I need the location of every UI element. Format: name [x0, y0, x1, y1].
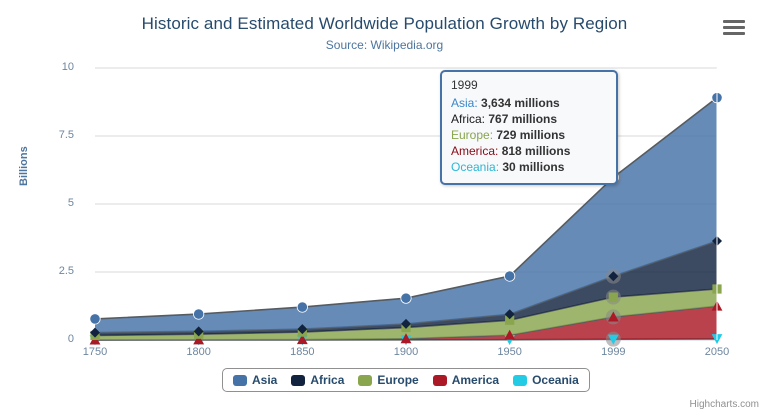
chart-legend: Asia Africa Europe America Oceania	[222, 368, 590, 392]
legend-item-europe[interactable]: Europe	[358, 373, 418, 387]
point-oceania-1999	[606, 332, 621, 347]
legend-swatch-america	[433, 375, 447, 386]
x-tick-label: 1750	[65, 346, 125, 358]
tooltip-row-america: America: 818 millions	[451, 143, 607, 159]
tooltip-series-name: Europe:	[451, 128, 496, 142]
x-tick-label: 1999	[583, 346, 643, 358]
point-america-1999	[606, 309, 621, 324]
point-asia-1850	[297, 302, 307, 312]
tooltip-rows: Asia: 3,634 millionsAfrica: 767 millions…	[451, 95, 607, 175]
legend-swatch-europe	[358, 375, 372, 386]
x-tick-label: 1950	[480, 346, 540, 358]
tooltip-row-europe: Europe: 729 millions	[451, 127, 607, 143]
highcharts-credits[interactable]: Highcharts.com	[690, 399, 759, 410]
legend-label-asia: Asia	[252, 373, 277, 387]
point-asia-1750	[90, 314, 100, 324]
tooltip-series-value: 767 millions	[488, 112, 557, 126]
y-tick-label: 7.5	[28, 129, 74, 141]
x-tick-label: 1850	[272, 346, 332, 358]
point-asia-1900	[401, 293, 411, 303]
highcharts-container: Historic and Estimated Worldwide Populat…	[0, 0, 769, 416]
point-europe-1999	[606, 290, 621, 305]
legend-label-america: America	[452, 373, 499, 387]
y-tick-label: 2.5	[28, 265, 74, 277]
tooltip-series-value: 729 millions	[496, 128, 565, 142]
tooltip-series-value: 3,634 millions	[481, 96, 560, 110]
tooltip-series-value: 30 millions	[502, 160, 564, 174]
legend-swatch-oceania	[513, 375, 527, 386]
tooltip-header: 1999	[451, 78, 607, 92]
y-axis-title: Billions	[18, 146, 30, 186]
chart-tooltip: 1999 Asia: 3,634 millionsAfrica: 767 mil…	[440, 70, 618, 185]
point-asia-1800	[193, 309, 203, 319]
legend-item-oceania[interactable]: Oceania	[513, 373, 579, 387]
legend-label-europe: Europe	[377, 373, 418, 387]
point-africa-1999	[606, 269, 621, 284]
tooltip-row-oceania: Oceania: 30 millions	[451, 159, 607, 175]
legend-label-africa: Africa	[310, 373, 344, 387]
tooltip-series-name: Oceania:	[451, 160, 502, 174]
legend-swatch-africa	[291, 375, 305, 386]
legend-item-asia[interactable]: Asia	[233, 373, 277, 387]
x-tick-label: 1900	[376, 346, 436, 358]
tooltip-series-name: America:	[451, 144, 502, 158]
point-asia-1950	[504, 271, 514, 281]
legend-label-oceania: Oceania	[532, 373, 579, 387]
legend-item-america[interactable]: America	[433, 373, 499, 387]
y-tick-label: 10	[28, 61, 74, 73]
legend-swatch-asia	[233, 375, 247, 386]
tooltip-series-value: 818 millions	[502, 144, 571, 158]
y-tick-label: 5	[28, 197, 74, 209]
tooltip-row-africa: Africa: 767 millions	[451, 111, 607, 127]
x-tick-label: 2050	[687, 346, 747, 358]
legend-item-africa[interactable]: Africa	[291, 373, 344, 387]
y-tick-label: 0	[28, 333, 74, 345]
tooltip-series-name: Africa:	[451, 112, 488, 126]
x-tick-label: 1800	[169, 346, 229, 358]
tooltip-row-asia: Asia: 3,634 millions	[451, 95, 607, 111]
tooltip-series-name: Asia:	[451, 96, 481, 110]
